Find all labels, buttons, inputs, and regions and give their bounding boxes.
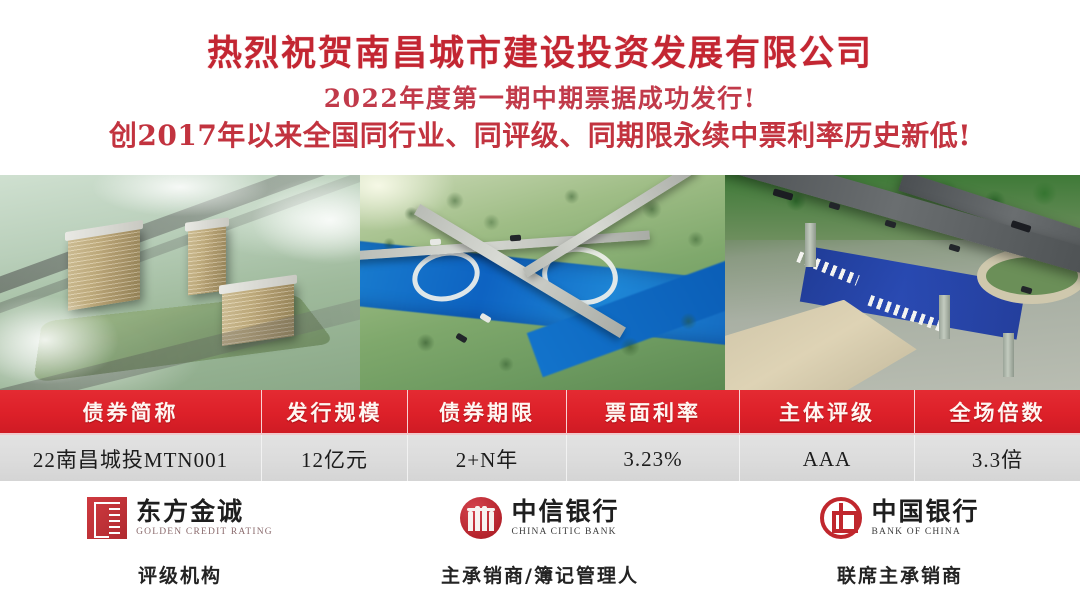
bond-issuance-poster: 热烈祝贺南昌城市建设投资发展有限公司 2022年度第一期中期票据成功发行! 创2… <box>0 0 1080 608</box>
cell-issuer-rating: AAA <box>740 435 915 483</box>
photo-river-interchange-render <box>360 175 725 390</box>
logo-china-citic-bank: 中信银行 CHINA CITIC BANK <box>460 495 619 541</box>
photo1-tower-a <box>68 227 140 310</box>
logo-bank-of-china: 中国银行 BANK OF CHINA <box>820 495 979 541</box>
citic-bar <box>482 506 487 531</box>
column-header-bond-name: 债券简称 <box>0 390 262 433</box>
institution-role-label: 主承销商/簿记管理人 <box>441 561 639 588</box>
photo-urban-viaduct-render <box>725 175 1080 390</box>
china-citic-bank-mark-icon <box>460 497 502 539</box>
cell-oversubscription: 3.3倍 <box>915 435 1080 483</box>
headline-block: 热烈祝贺南昌城市建设投资发展有限公司 2022年度第一期中期票据成功发行! 创2… <box>0 0 1080 175</box>
column-header-issue-size: 发行规模 <box>262 390 408 433</box>
page-title: 热烈祝贺南昌城市建设投资发展有限公司 <box>0 30 1080 78</box>
citic-bar <box>475 506 480 531</box>
photo-strip <box>0 175 1080 390</box>
column-header-coupon-rate: 票面利率 <box>567 390 740 433</box>
logo-name-cn: 东方金诚 <box>136 499 244 525</box>
logo-name-cn: 中信银行 <box>511 499 619 525</box>
table-header-row: 债券简称 发行规模 债券期限 票面利率 主体评级 全场倍数 <box>0 390 1080 433</box>
column-header-oversubscription: 全场倍数 <box>915 390 1080 433</box>
table-header: 债券简称 发行规模 债券期限 票面利率 主体评级 全场倍数 <box>0 390 1080 433</box>
logo-name-en: BANK OF CHINA <box>871 527 961 537</box>
logo-name-cn: 中国银行 <box>871 499 979 525</box>
cell-bond-name: 22南昌城投MTN001 <box>0 435 262 483</box>
table-row: 22南昌城投MTN001 12亿元 2+N年 3.23% AAA 3.3倍 <box>0 433 1080 483</box>
logo-text-block: 中信银行 CHINA CITIC BANK <box>511 499 619 537</box>
table-body: 22南昌城投MTN001 12亿元 2+N年 3.23% AAA 3.3倍 <box>0 433 1080 483</box>
citic-bar <box>468 511 473 531</box>
cell-coupon-rate: 3.23% <box>567 435 740 483</box>
photo3-bridge-pier <box>939 295 950 339</box>
logo-name-en: CHINA CITIC BANK <box>511 527 616 537</box>
photo2-vehicle <box>510 235 521 242</box>
bond-summary-table: 债券简称 发行规模 债券期限 票面利率 主体评级 全场倍数 22南昌城投MTN0… <box>0 390 1080 483</box>
column-header-bond-term: 债券期限 <box>408 390 567 433</box>
institution-role-label: 联席主承销商 <box>837 561 963 588</box>
logo-golden-credit-rating: 东方金诚 GOLDEN CREDIT RATING <box>87 495 273 541</box>
column-header-issuer-rating: 主体评级 <box>740 390 915 433</box>
institution-golden-credit-rating: 东方金诚 GOLDEN CREDIT RATING 评级机构 <box>0 481 360 608</box>
headline-subtitle-1: 2022年度第一期中期票据成功发行! <box>0 82 1080 116</box>
cell-bond-term: 2+N年 <box>408 435 567 483</box>
photo2-vehicle <box>430 239 441 246</box>
logo-text-block: 东方金诚 GOLDEN CREDIT RATING <box>136 499 273 537</box>
bank-of-china-mark-icon <box>820 497 862 539</box>
institution-bank-of-china: 中国银行 BANK OF CHINA 联席主承销商 <box>720 481 1080 608</box>
cell-issue-size: 12亿元 <box>262 435 408 483</box>
footer-institutions: 东方金诚 GOLDEN CREDIT RATING 评级机构 中信银行 CHIN… <box>0 481 1080 608</box>
logo-text-block: 中国银行 BANK OF CHINA <box>871 499 979 537</box>
institution-china-citic-bank: 中信银行 CHINA CITIC BANK 主承销商/簿记管理人 <box>360 481 720 608</box>
photo3-bridge-pier <box>805 223 816 267</box>
photo-residential-towers-render <box>0 175 360 390</box>
photo3-bridge-pier <box>1003 333 1014 377</box>
citic-bar <box>489 511 494 531</box>
institution-role-label: 评级机构 <box>138 561 222 588</box>
logo-name-en: GOLDEN CREDIT RATING <box>136 527 273 537</box>
headline-subtitle-2: 创2017年以来全国同行业、同评级、同期限永续中票利率历史新低! <box>0 117 1080 154</box>
golden-credit-rating-mark-icon <box>87 497 127 539</box>
